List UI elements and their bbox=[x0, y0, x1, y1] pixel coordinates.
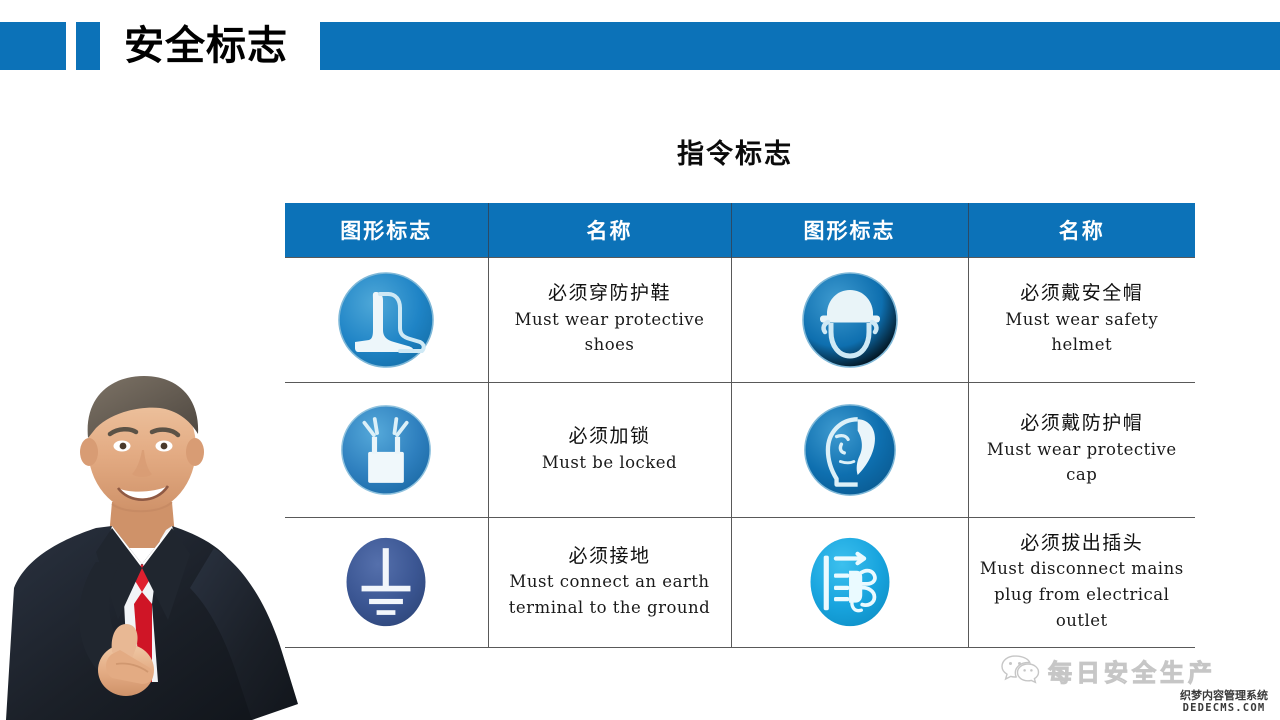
table-row: 必须加锁 Must be locked bbox=[285, 382, 1195, 517]
sign-name-zh: 必须戴安全帽 bbox=[969, 281, 1196, 307]
watermark-cms-name: 织梦内容管理系统 bbox=[1168, 690, 1280, 702]
header-accent-bar-right bbox=[320, 22, 1280, 70]
sign-icon-cell bbox=[731, 517, 968, 647]
sign-name-zh: 必须接地 bbox=[489, 544, 731, 570]
sign-name-cell: 必须拔出插头 Must disconnect mains plug from e… bbox=[968, 517, 1195, 647]
table-row: 必须穿防护鞋 Must wear protective shoes bbox=[285, 257, 1195, 382]
watermark-wechat-text: 每日安全生产 bbox=[1048, 653, 1216, 688]
sign-name-en: Must wear protective shoes bbox=[489, 307, 731, 358]
sign-icon-cell bbox=[731, 257, 968, 382]
column-header-name-left: 名称 bbox=[488, 203, 731, 257]
header-accent-block-left bbox=[0, 22, 66, 70]
table-row: 必须接地 Must connect an earth terminal to t… bbox=[285, 517, 1195, 647]
disconnect-plug-sign-icon bbox=[732, 533, 968, 631]
sign-name-cell: 必须穿防护鞋 Must wear protective shoes bbox=[488, 257, 731, 382]
sign-name-zh: 必须加锁 bbox=[489, 424, 731, 450]
safety-helmet-sign-icon bbox=[732, 270, 968, 370]
header-accent-block-small bbox=[76, 22, 100, 70]
sign-icon-cell bbox=[731, 382, 968, 517]
sign-name-zh: 必须拔出插头 bbox=[969, 531, 1196, 557]
earth-ground-sign-icon bbox=[285, 533, 488, 631]
protective-cap-sign-icon bbox=[732, 402, 968, 498]
watermark-cms-domain: DEDECMS.COM bbox=[1168, 702, 1280, 715]
sign-icon-cell bbox=[285, 257, 488, 382]
sign-name-en: Must wear safety helmet bbox=[969, 307, 1196, 358]
watermark-wechat: 每日安全生产 bbox=[1000, 652, 1216, 689]
sign-name-cell: 必须加锁 Must be locked bbox=[488, 382, 731, 517]
padlock-sign-icon bbox=[285, 403, 488, 497]
section-title: 指令标志 bbox=[585, 132, 885, 171]
sign-name-en: Must disconnect mains plug from electric… bbox=[969, 556, 1196, 633]
sign-name-zh: 必须穿防护鞋 bbox=[489, 281, 731, 307]
sign-name-en: Must connect an earth terminal to the gr… bbox=[489, 569, 731, 620]
sign-icon-cell bbox=[285, 517, 488, 647]
sign-name-zh: 必须戴防护帽 bbox=[969, 411, 1196, 437]
sign-name-cell: 必须接地 Must connect an earth terminal to t… bbox=[488, 517, 731, 647]
page-header: 安全标志 bbox=[0, 0, 1280, 90]
sign-name-cell: 必须戴防护帽 Must wear protective cap bbox=[968, 382, 1195, 517]
wechat-icon bbox=[1000, 652, 1040, 689]
sign-name-cell: 必须戴安全帽 Must wear safety helmet bbox=[968, 257, 1195, 382]
avatar bbox=[0, 352, 300, 720]
sign-name-en: Must be locked bbox=[489, 450, 731, 476]
page-title: 安全标志 bbox=[124, 16, 320, 76]
sign-name-en: Must wear protective cap bbox=[969, 437, 1196, 488]
sign-icon-cell bbox=[285, 382, 488, 517]
protective-shoes-sign-icon bbox=[285, 270, 488, 370]
mandatory-signs-table: 图形标志 名称 图形标志 名称 bbox=[285, 203, 1195, 648]
column-header-graphic-left: 图形标志 bbox=[285, 203, 488, 257]
column-header-graphic-right: 图形标志 bbox=[731, 203, 968, 257]
table-header-row: 图形标志 名称 图形标志 名称 bbox=[285, 203, 1195, 257]
watermark-cms: 织梦内容管理系统 DEDECMS.COM bbox=[1168, 690, 1280, 715]
column-header-name-right: 名称 bbox=[968, 203, 1195, 257]
